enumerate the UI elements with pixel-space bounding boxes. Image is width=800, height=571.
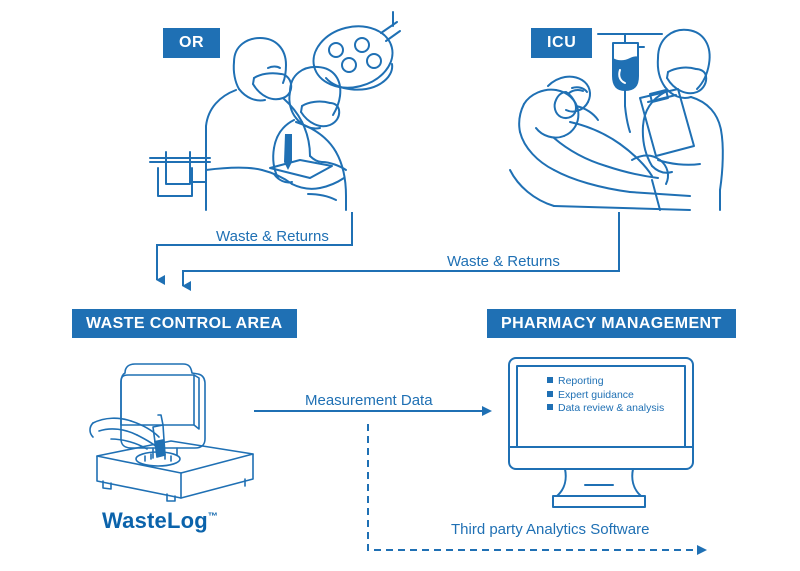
edge-icu-to-waste <box>183 212 619 286</box>
edge-or-to-waste <box>157 212 352 280</box>
node-label-icu: ICU <box>531 28 592 58</box>
diagram-canvas: OR <box>0 0 800 571</box>
edge-label-icu-to-waste: Waste & Returns <box>447 253 560 270</box>
edge-label-third-party-analytics: Third party Analytics Software <box>451 521 649 538</box>
node-label-pharmacy-management: PHARMACY MANAGEMENT <box>487 309 736 338</box>
node-label-waste-control-area: WASTE CONTROL AREA <box>72 309 297 338</box>
flow-arrows-upper <box>0 200 800 310</box>
edge-label-or-to-waste: Waste & Returns <box>216 228 329 245</box>
node-label-or: OR <box>163 28 220 58</box>
edge-label-measurement-data: Measurement Data <box>305 392 433 409</box>
